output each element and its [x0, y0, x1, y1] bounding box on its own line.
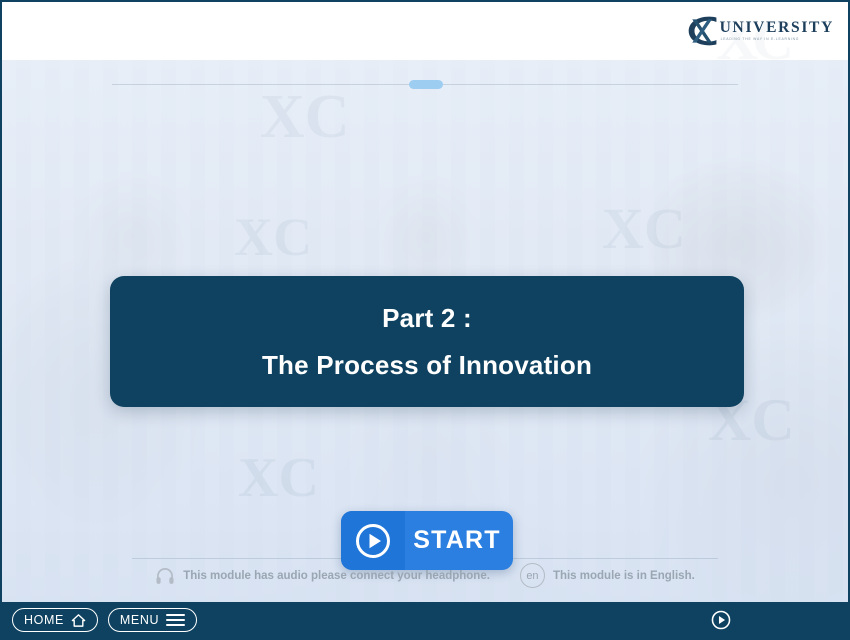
progress-marker-top — [409, 80, 443, 89]
elearning-slide: XC UNIVERSITY LEADING THE WAY IN E-LEARN… — [0, 0, 850, 640]
background-watermark-icon: XC — [260, 86, 350, 148]
page-title-subject: The Process of Innovation — [262, 350, 592, 381]
menu-button-label: MENU — [120, 613, 159, 627]
audio-notice: This module has audio please connect you… — [155, 566, 490, 586]
start-button[interactable]: START — [341, 511, 513, 570]
logo-tagline: LEADING THE WAY IN E-LEARNING — [720, 38, 834, 41]
logo-name: UNIVERSITY — [720, 20, 834, 36]
module-notices: This module has audio please connect you… — [2, 563, 848, 588]
background-watermark-icon: XC — [602, 200, 686, 258]
play-circle-icon — [341, 511, 405, 570]
xc-monogram-icon — [685, 14, 721, 48]
menu-button[interactable]: MENU — [108, 608, 197, 632]
headphones-icon — [155, 566, 175, 586]
start-button-label: START — [405, 526, 513, 555]
background-watermark-icon: XC — [238, 450, 319, 506]
language-notice: en This module is in English. — [520, 563, 695, 588]
title-card: Part 2 : The Process of Innovation — [110, 276, 744, 407]
page-title-part: Part 2 : — [382, 303, 472, 334]
slide-header: XC UNIVERSITY LEADING THE WAY IN E-LEARN… — [2, 2, 848, 60]
university-logo: UNIVERSITY LEADING THE WAY IN E-LEARNING — [685, 14, 834, 48]
hamburger-icon — [166, 614, 185, 627]
audio-notice-text: This module has audio please connect you… — [183, 570, 490, 582]
house-icon — [71, 613, 86, 628]
home-button-label: HOME — [24, 613, 64, 627]
bottom-navbar: HOME MENU — [2, 602, 848, 638]
play-circle-icon[interactable] — [710, 609, 732, 631]
language-badge-icon: en — [520, 563, 545, 588]
language-notice-text: This module is in English. — [553, 570, 695, 582]
home-button[interactable]: HOME — [12, 608, 98, 632]
slide-stage: XC XC XC XC XC Part 2 : The Process of I… — [2, 60, 848, 606]
background-watermark-icon: XC — [234, 210, 312, 264]
